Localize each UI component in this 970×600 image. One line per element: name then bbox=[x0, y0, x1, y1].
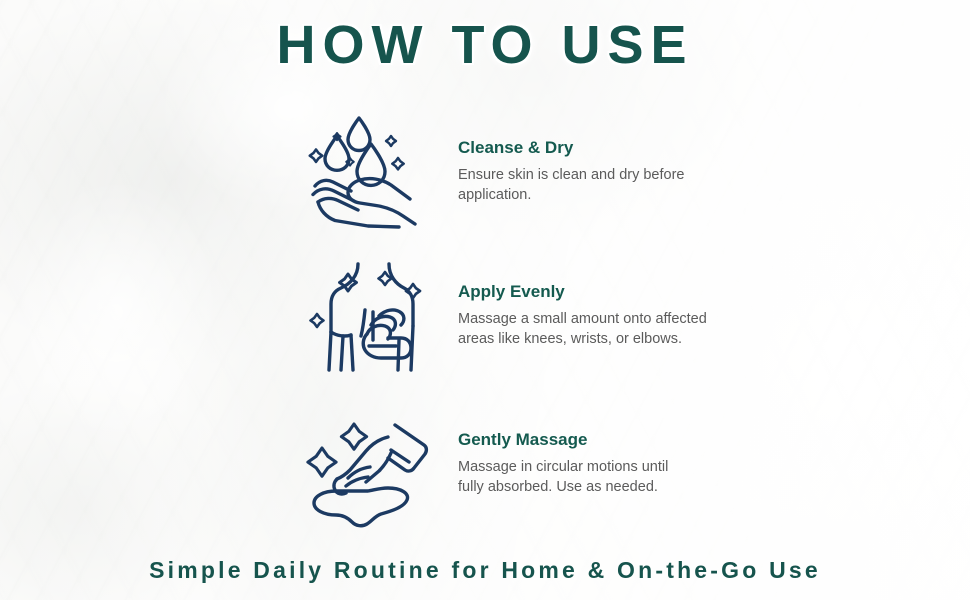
step-description: Ensure skin is clean and dry before appl… bbox=[458, 165, 698, 206]
page-title: HOW TO USE bbox=[276, 16, 693, 74]
how-to-use-poster: HOW TO USE bbox=[0, 0, 970, 600]
hand-massage-icon bbox=[282, 393, 450, 541]
footer-tagline: Simple Daily Routine for Home & On-the-G… bbox=[149, 557, 821, 584]
step-item: Apply Evenly Massage a small amount onto… bbox=[282, 243, 842, 393]
steps-list: Cleanse & Dry Ensure skin is clean and d… bbox=[282, 93, 842, 543]
step-item: Gently Massage Massage in circular motio… bbox=[282, 393, 842, 543]
step-title: Apply Evenly bbox=[458, 283, 842, 302]
step-description: Massage in circular motions until fully … bbox=[458, 457, 688, 498]
step-text-block: Gently Massage Massage in circular motio… bbox=[450, 393, 842, 498]
step-text-block: Apply Evenly Massage a small amount onto… bbox=[450, 243, 842, 350]
footer-container: Simple Daily Routine for Home & On-the-G… bbox=[0, 557, 970, 584]
body-apply-hand-icon bbox=[282, 243, 450, 387]
hand-with-droplets-icon bbox=[282, 93, 450, 235]
step-title: Gently Massage bbox=[458, 431, 842, 450]
page-title-container: HOW TO USE bbox=[0, 16, 970, 74]
step-title: Cleanse & Dry bbox=[458, 139, 842, 158]
step-text-block: Cleanse & Dry Ensure skin is clean and d… bbox=[450, 93, 842, 206]
step-description: Massage a small amount onto affected are… bbox=[458, 309, 708, 350]
step-item: Cleanse & Dry Ensure skin is clean and d… bbox=[282, 93, 842, 243]
